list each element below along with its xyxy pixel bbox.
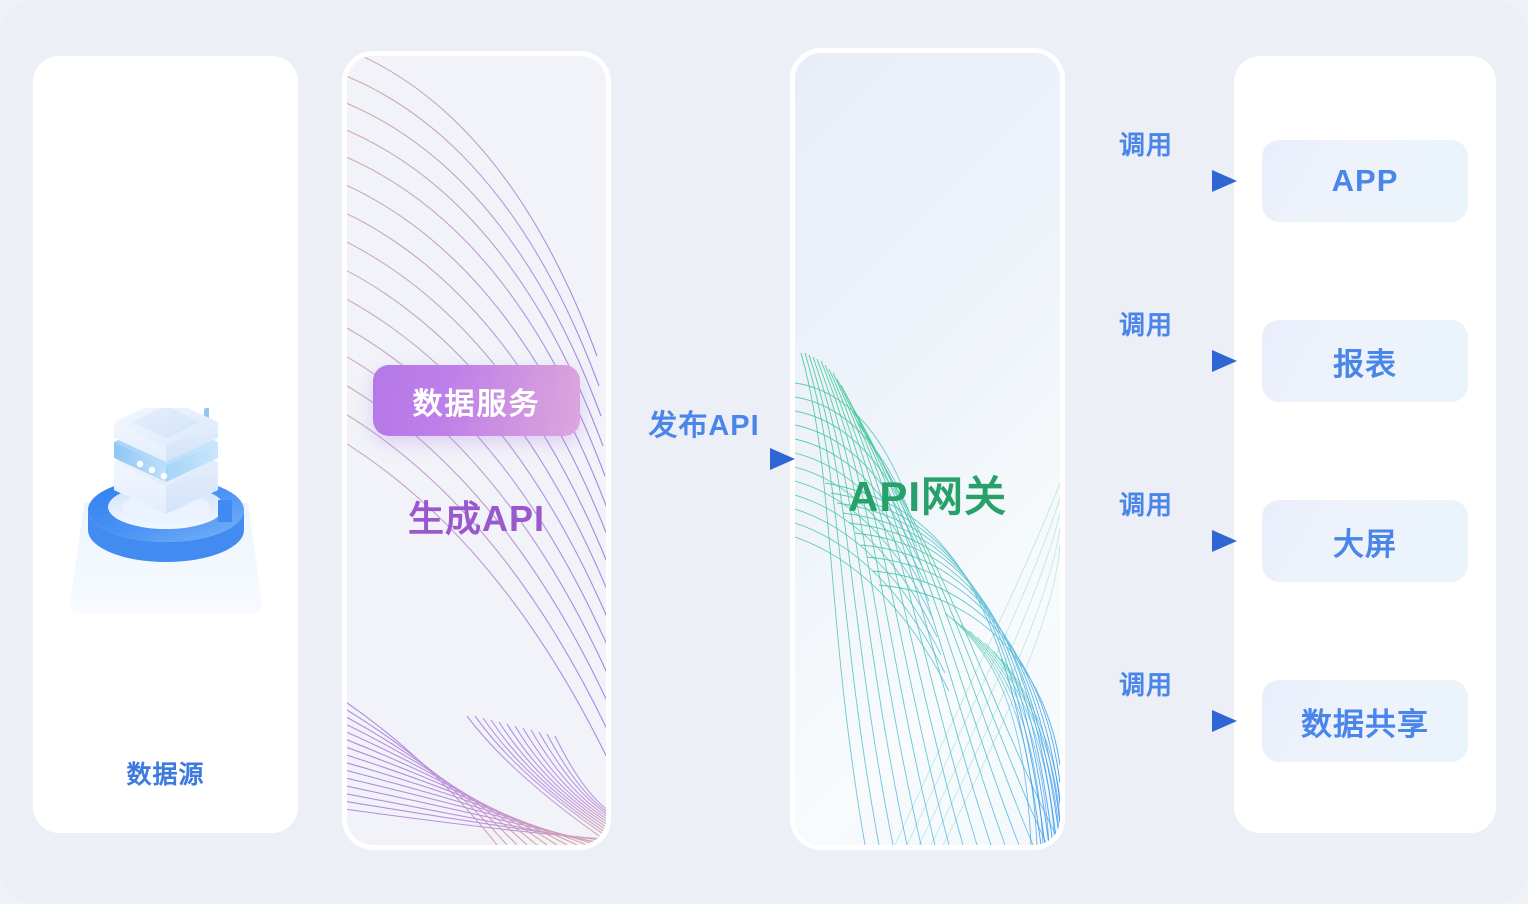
- arrow-call-dashboard-label: 调用: [1055, 485, 1237, 522]
- dashed-arrow-icon: [1055, 350, 1237, 372]
- arrow-call-data-sharing: 调用: [1055, 652, 1237, 732]
- panel-data-service: 数据服务 生成API: [347, 56, 606, 845]
- consumer-card-report[interactable]: 报表: [1262, 320, 1468, 402]
- consumer-card-app[interactable]: APP: [1262, 140, 1468, 222]
- arrow-call-dashboard: 调用: [1055, 472, 1237, 552]
- data-source-label: 数据源: [33, 755, 298, 791]
- dashed-arrow-icon: [1055, 170, 1237, 192]
- data-service-badge[interactable]: 数据服务: [373, 365, 580, 436]
- dashed-arrow-icon: [1055, 530, 1237, 552]
- outer-frame: 数据源: [0, 0, 1528, 904]
- dashed-arrow-icon: [1055, 710, 1237, 732]
- panel-data-source: 数据源: [33, 56, 298, 833]
- arrow-call-data-sharing-label: 调用: [1055, 665, 1237, 702]
- arrow-call-app-label: 调用: [1055, 125, 1237, 162]
- arrow-call-app: 调用: [1055, 112, 1237, 192]
- dashed-arrow-icon: [613, 448, 795, 470]
- consumer-card-data-sharing[interactable]: 数据共享: [1262, 680, 1468, 762]
- generate-api-caption: 生成API: [347, 490, 606, 542]
- consumer-card-dashboard[interactable]: 大屏: [1262, 500, 1468, 582]
- panel-consumers: APP 报表 大屏 数据共享: [1234, 56, 1496, 833]
- diagram-stage: 数据源: [0, 0, 1528, 904]
- arrow-publish-api: 发布API: [613, 388, 795, 470]
- panel-api-gateway: API网关: [795, 53, 1060, 845]
- arrow-publish-api-label: 发布API: [613, 402, 795, 444]
- api-gateway-title: API网关: [795, 463, 1060, 524]
- purple-arc-lines-decoration: [347, 56, 606, 845]
- green-blue-flow-lines-decoration: [795, 53, 1060, 845]
- database-stack-icon: [66, 408, 266, 623]
- arrow-call-report-label: 调用: [1055, 305, 1237, 342]
- arrow-call-report: 调用: [1055, 292, 1237, 372]
